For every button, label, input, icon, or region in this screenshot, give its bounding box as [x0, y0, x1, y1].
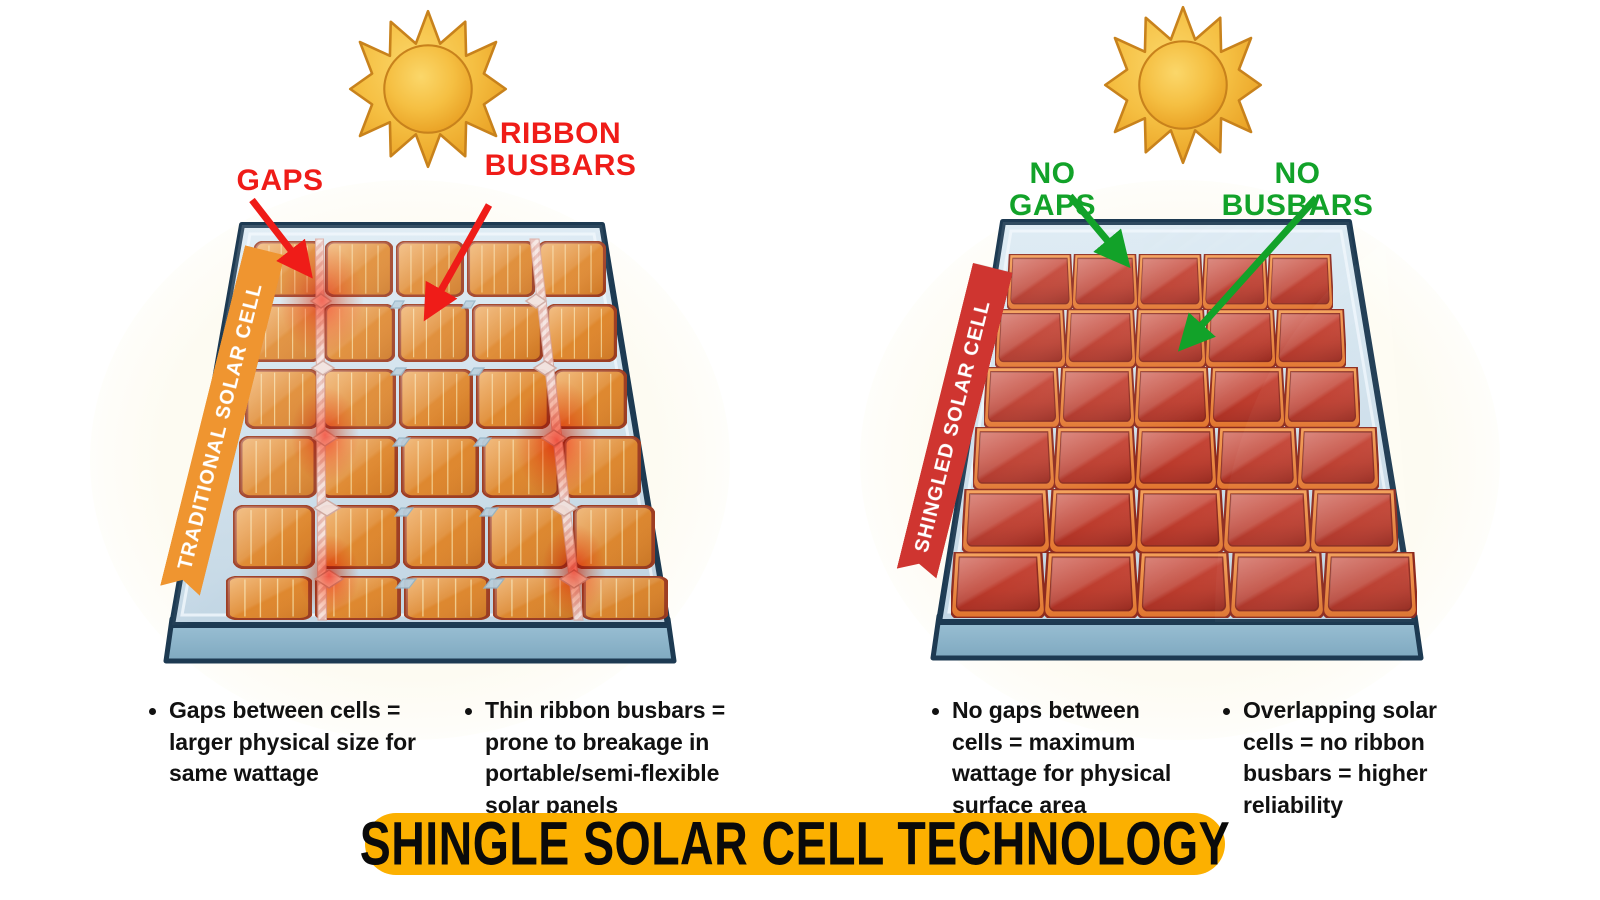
infographic-root: TRADITIONAL SOLAR CELL SHINGLED SOLAR CE…	[0, 0, 1600, 900]
title-banner: SHINGLE SOLAR CELL TECHNOLOGY	[365, 813, 1225, 875]
callout-ribbon-busbars: RIBBON BUSBARS	[468, 118, 653, 183]
callout-no-busbars: NO BUSBARS	[1205, 158, 1390, 223]
page-title: SHINGLE SOLAR CELL TECHNOLOGY	[360, 809, 1230, 880]
list-item: Gaps between cells = larger physical siz…	[145, 695, 435, 790]
callout-gaps: GAPS	[210, 165, 350, 197]
list-item: Overlapping solar cells = no ribbon busb…	[1219, 695, 1484, 821]
traditional-bullet-list: Gaps between cells = larger physical siz…	[145, 695, 765, 821]
sun-icon-right	[1092, 4, 1274, 166]
sun-icon-right-graphic	[1092, 4, 1274, 166]
list-item: Thin ribbon busbars = prone to breakage …	[461, 695, 761, 821]
callout-no-gaps: NO GAPS	[985, 158, 1120, 223]
shingled-bullet-list: No gaps between cells = maximum wattage …	[928, 695, 1488, 821]
list-item: No gaps between cells = maximum wattage …	[928, 695, 1193, 821]
